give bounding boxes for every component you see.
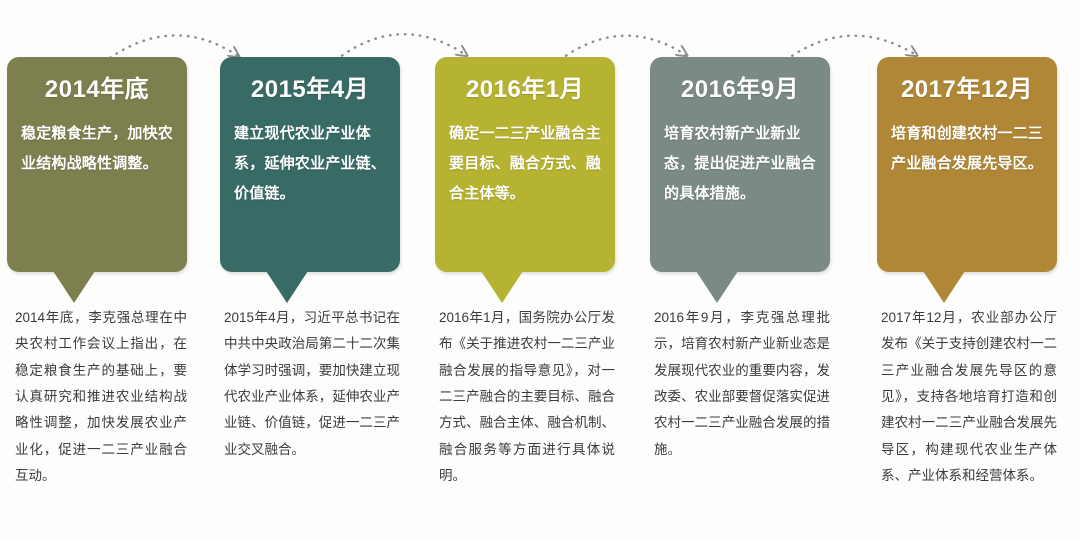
timeline-column-2: 2015年4月 建立现代农业产业体系，延伸农业产业链、价值链。 2015年4月，… (220, 0, 400, 539)
timeline-description-5: 2017年12月，农业部办公厅发布《关于支持创建农村一二三产业融合发展先导区的意… (881, 305, 1057, 489)
card-summary-4: 培育农村新产业新业态，提出促进产业融合的具体措施。 (664, 119, 816, 209)
card-summary-3: 确定一二三产业融合主要目标、融合方式、融合主体等。 (449, 119, 601, 209)
card-date-3: 2016年1月 (449, 77, 601, 103)
timeline-description-3: 2016年1月，国务院办公厅发布《关于推进农村一二三产业融合发展的指导意见》，对… (439, 305, 615, 489)
timeline-column-3: 2016年1月 确定一二三产业融合主要目标、融合方式、融合主体等。 2016年1… (435, 0, 615, 539)
timeline-card-4[interactable]: 2016年9月 培育农村新产业新业态，提出促进产业融合的具体措施。 (650, 57, 830, 272)
card-tail-3 (481, 271, 523, 303)
timeline-infographic: 2014年底 稳定粮食生产，加快农业结构战略性调整。 2014年底，李克强总理在… (0, 0, 1080, 539)
card-date-5: 2017年12月 (891, 77, 1043, 103)
timeline-card-2[interactable]: 2015年4月 建立现代农业产业体系，延伸农业产业链、价值链。 (220, 57, 400, 272)
card-date-1: 2014年底 (21, 77, 173, 103)
card-summary-2: 建立现代农业产业体系，延伸农业产业链、价值链。 (234, 119, 386, 209)
timeline-description-2: 2015年4月，习近平总书记在中共中央政治局第二十二次集体学习时强调，要加快建立… (224, 305, 400, 463)
timeline-column-5: 2017年12月 培育和创建农村一二三产业融合发展先导区。 2017年12月，农… (877, 0, 1057, 539)
card-tail-1 (53, 271, 95, 303)
timeline-description-1: 2014年底，李克强总理在中央农村工作会议上指出，在稳定粮食生产的基础上，要认真… (15, 305, 187, 489)
timeline-card-5[interactable]: 2017年12月 培育和创建农村一二三产业融合发展先导区。 (877, 57, 1057, 272)
card-tail-5 (923, 271, 965, 303)
timeline-column-4: 2016年9月 培育农村新产业新业态，提出促进产业融合的具体措施。 2016年9… (650, 0, 830, 539)
card-summary-5: 培育和创建农村一二三产业融合发展先导区。 (891, 119, 1043, 179)
card-tail-2 (266, 271, 308, 303)
timeline-card-3[interactable]: 2016年1月 确定一二三产业融合主要目标、融合方式、融合主体等。 (435, 57, 615, 272)
card-date-4: 2016年9月 (664, 77, 816, 103)
timeline-card-1[interactable]: 2014年底 稳定粮食生产，加快农业结构战略性调整。 (7, 57, 187, 272)
timeline-description-4: 2016年9月，李克强总理批示，培育农村新产业新业态是发展现代农业的重要内容，发… (654, 305, 830, 463)
card-summary-1: 稳定粮食生产，加快农业结构战略性调整。 (21, 119, 173, 179)
card-tail-4 (696, 271, 738, 303)
timeline-column-1: 2014年底 稳定粮食生产，加快农业结构战略性调整。 2014年底，李克强总理在… (7, 0, 187, 539)
card-date-2: 2015年4月 (234, 77, 386, 103)
